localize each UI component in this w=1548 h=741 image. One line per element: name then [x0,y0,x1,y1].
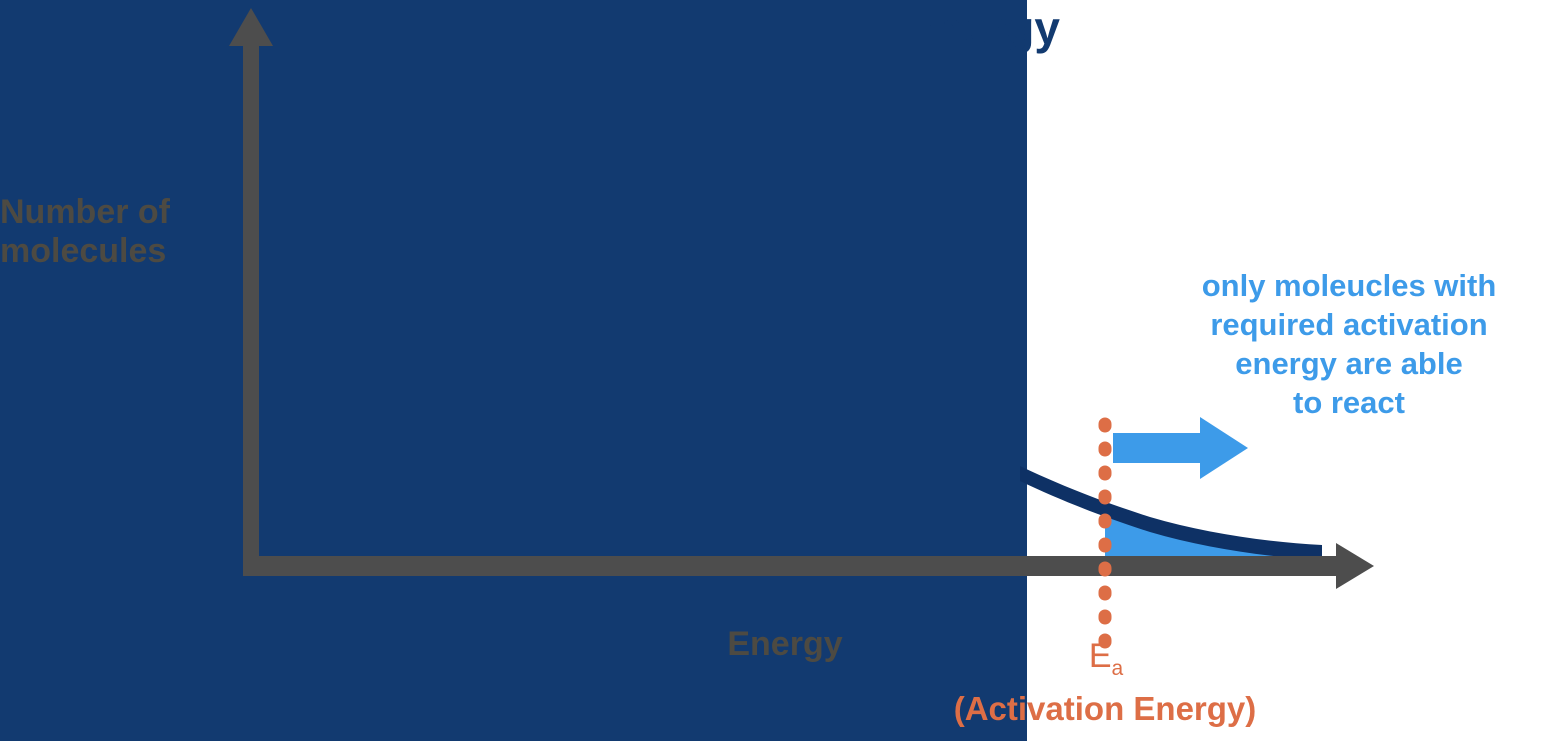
callout-line-1: only moleucles with [1150,266,1548,305]
ea-symbol-label: Ea [1060,637,1152,681]
callout-line-2: required activation [1150,305,1548,344]
callout-line-3: energy are able [1150,344,1548,383]
ea-symbol-subscript: a [1112,657,1124,680]
right-arrow-icon [1113,417,1248,479]
reacting-molecules-callout: only moleucles with required activation … [1150,266,1548,422]
callout-line-4: to react [1150,383,1548,422]
ea-caption-label: (Activation Energy) [860,690,1350,728]
ea-symbol-main: E [1089,637,1112,675]
diagram-canvas: Energy Number of molecules Energy Ea (Ac… [0,0,1548,741]
